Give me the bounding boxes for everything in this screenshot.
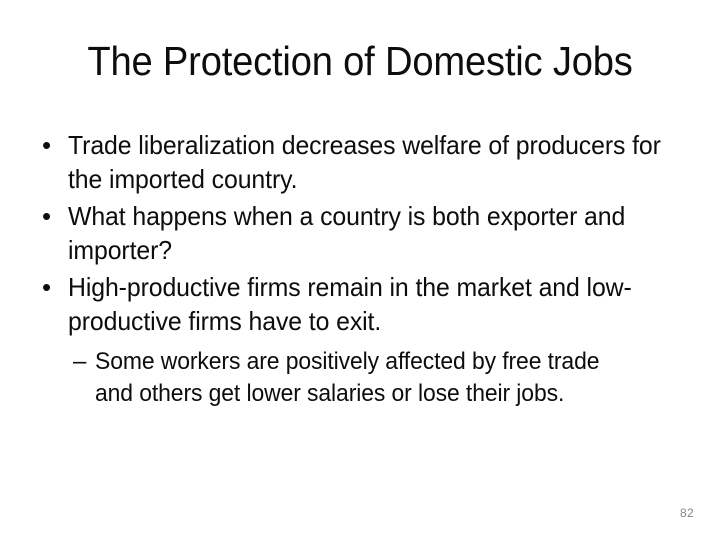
dash-marker-icon: – <box>68 346 95 378</box>
slide-body-content: • Trade liberalization decreases welfare… <box>36 128 696 410</box>
slide-page-number: 82 <box>680 507 694 519</box>
bullet-text-2: What happens when a country is both expo… <box>68 199 668 267</box>
bullet-item-2: • What happens when a country is both ex… <box>36 199 696 267</box>
sub-bullet-text-1: Some workers are positively affected by … <box>95 346 669 410</box>
bullet-marker-icon: • <box>36 199 68 233</box>
bullet-marker-icon: • <box>36 128 68 162</box>
bullet-item-3: • High-productive firms remain in the ma… <box>36 270 696 338</box>
bullet-marker-icon: • <box>36 270 68 304</box>
bullet-text-3: High-productive firms remain in the mark… <box>68 270 668 338</box>
bullet-text-1: Trade liberalization decreases welfare o… <box>68 128 668 196</box>
sub-bullet-item-1: – Some workers are positively affected b… <box>68 346 696 410</box>
bullet-item-1: • Trade liberalization decreases welfare… <box>36 128 696 196</box>
presentation-slide: The Protection of Domestic Jobs • Trade … <box>0 0 720 540</box>
slide-title: The Protection of Domestic Jobs <box>62 38 657 84</box>
